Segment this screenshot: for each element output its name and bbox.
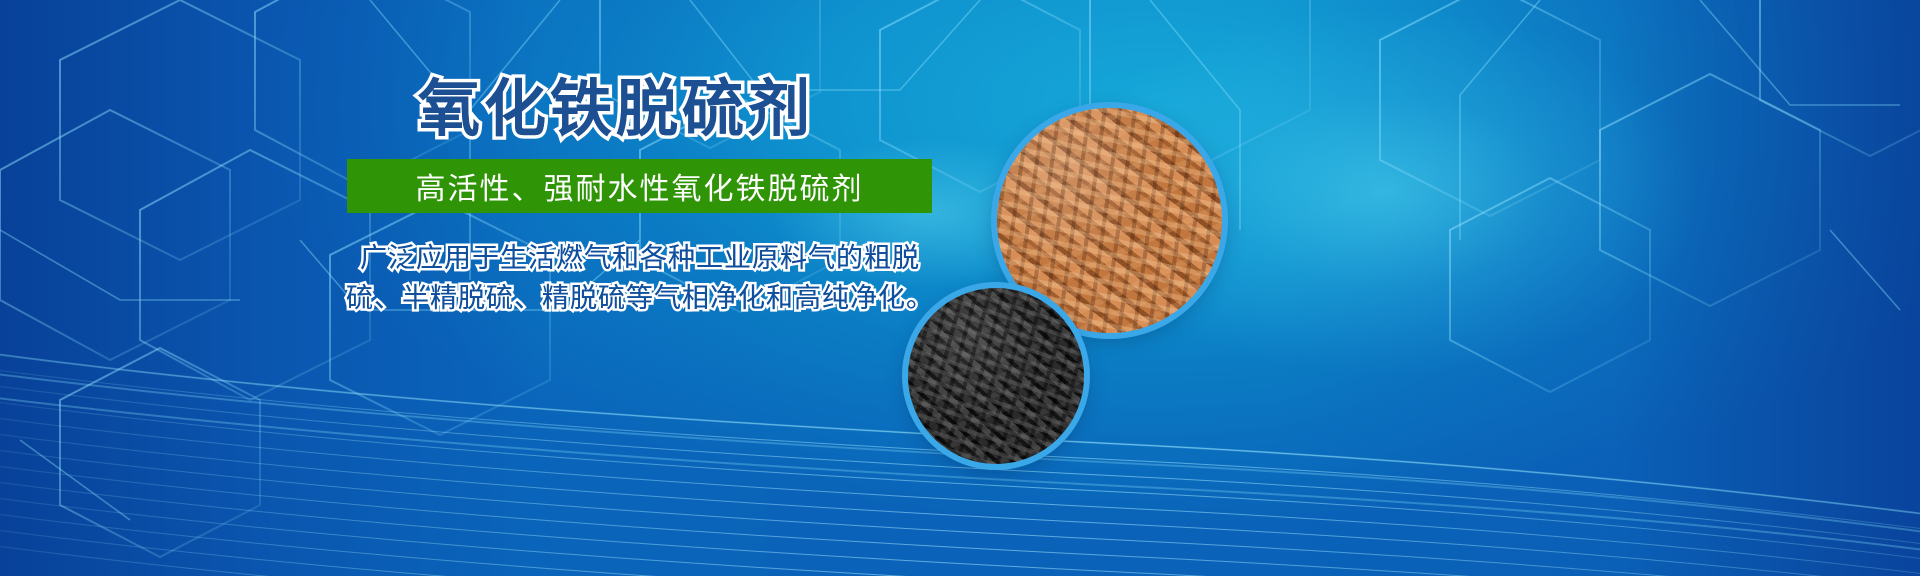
activated-carbon-pellets-photo xyxy=(908,288,1084,464)
activated-carbon-texture xyxy=(908,288,1084,464)
description-line-2: 硫、半精脱硫、精脱硫等气相净化和高纯净化。 xyxy=(330,278,950,318)
description-line-1: 广泛应用于生活燃气和各种工业原料气的粗脱 xyxy=(330,238,950,278)
highlight-bar-label: 高活性、强耐水性氧化铁脱硫剂 xyxy=(416,164,864,208)
banner-text-column: 氧化铁脱硫剂 氧化铁脱硫剂 高活性、强耐水性氧化铁脱硫剂 广泛应用于生活燃气和各… xyxy=(0,0,960,576)
page-title: 氧化铁脱硫剂 xyxy=(418,58,814,148)
highlight-bar: 高活性、强耐水性氧化铁脱硫剂 xyxy=(347,159,932,213)
description: 广泛应用于生活燃气和各种工业原料气的粗脱 硫、半精脱硫、精脱硫等气相净化和高纯净… xyxy=(330,238,950,318)
product-banner: 氧化铁脱硫剂 氧化铁脱硫剂 高活性、强耐水性氧化铁脱硫剂 广泛应用于生活燃气和各… xyxy=(0,0,1920,576)
